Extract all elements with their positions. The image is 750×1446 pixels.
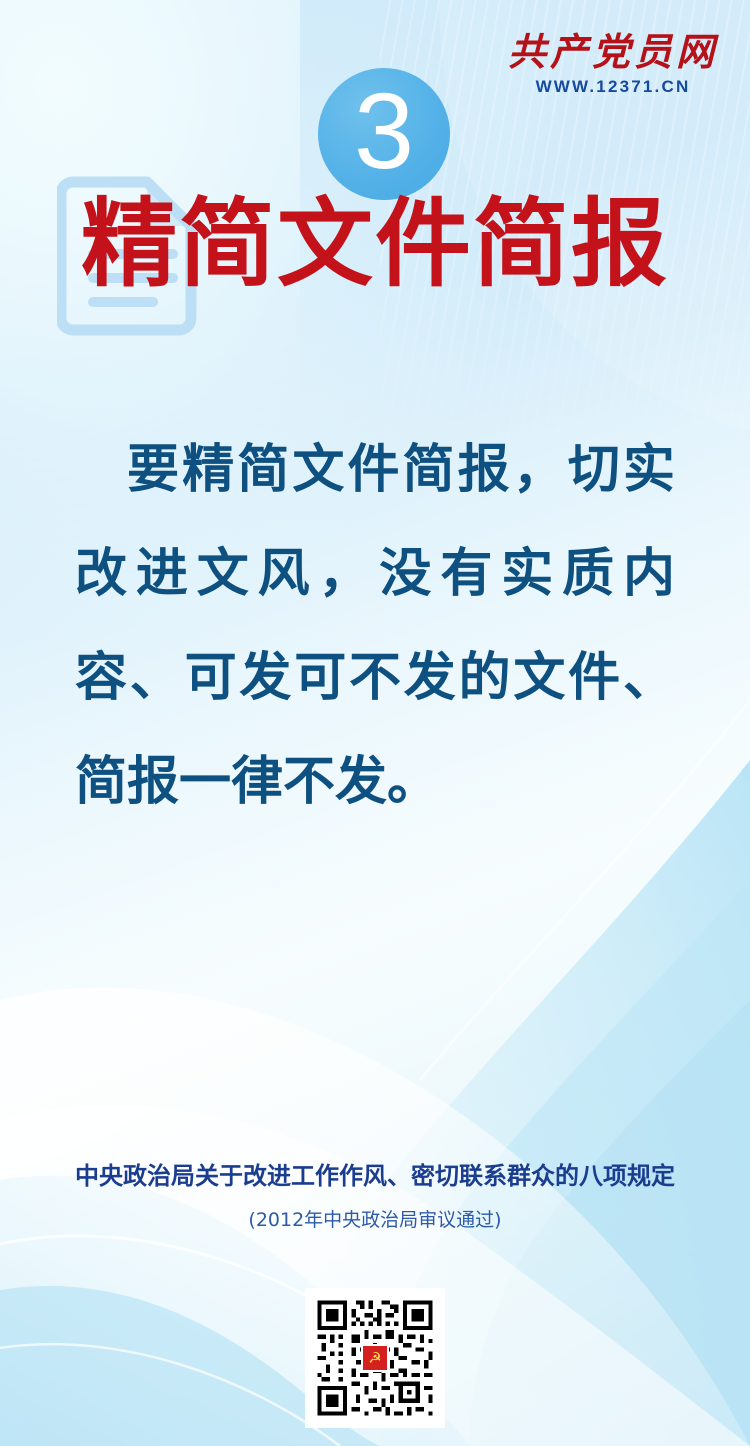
qr-code-canvas: ☭	[313, 1296, 437, 1420]
party-emblem-glyph: ☭	[368, 1351, 381, 1366]
regulation-subtitle: (2012年中央政治局审议通过)	[0, 1206, 750, 1234]
regulation-title: 中央政治局关于改进工作作风、密切联系群众的八项规定	[0, 1160, 750, 1192]
page-title: 精简文件简报	[0, 196, 750, 292]
qr-code[interactable]: ☭	[305, 1288, 445, 1428]
logo-wordmark: 共产党员网	[498, 34, 728, 72]
number-badge: 3	[318, 68, 450, 200]
logo-url: WWW.12371.CN	[498, 78, 728, 95]
party-emblem-icon: ☭	[363, 1346, 387, 1370]
number-badge-value: 3	[354, 77, 414, 185]
body-text: 要精简文件简报，切实改进文风，没有实质内容、可发可不发的文件、简报一律不发。	[75, 418, 675, 834]
site-logo[interactable]: 共产党员网 WWW.12371.CN	[498, 34, 728, 95]
poster-canvas: 共产党员网 WWW.12371.CN 3 精简文件简报 要精简文件简报，切实改进…	[0, 0, 750, 1446]
